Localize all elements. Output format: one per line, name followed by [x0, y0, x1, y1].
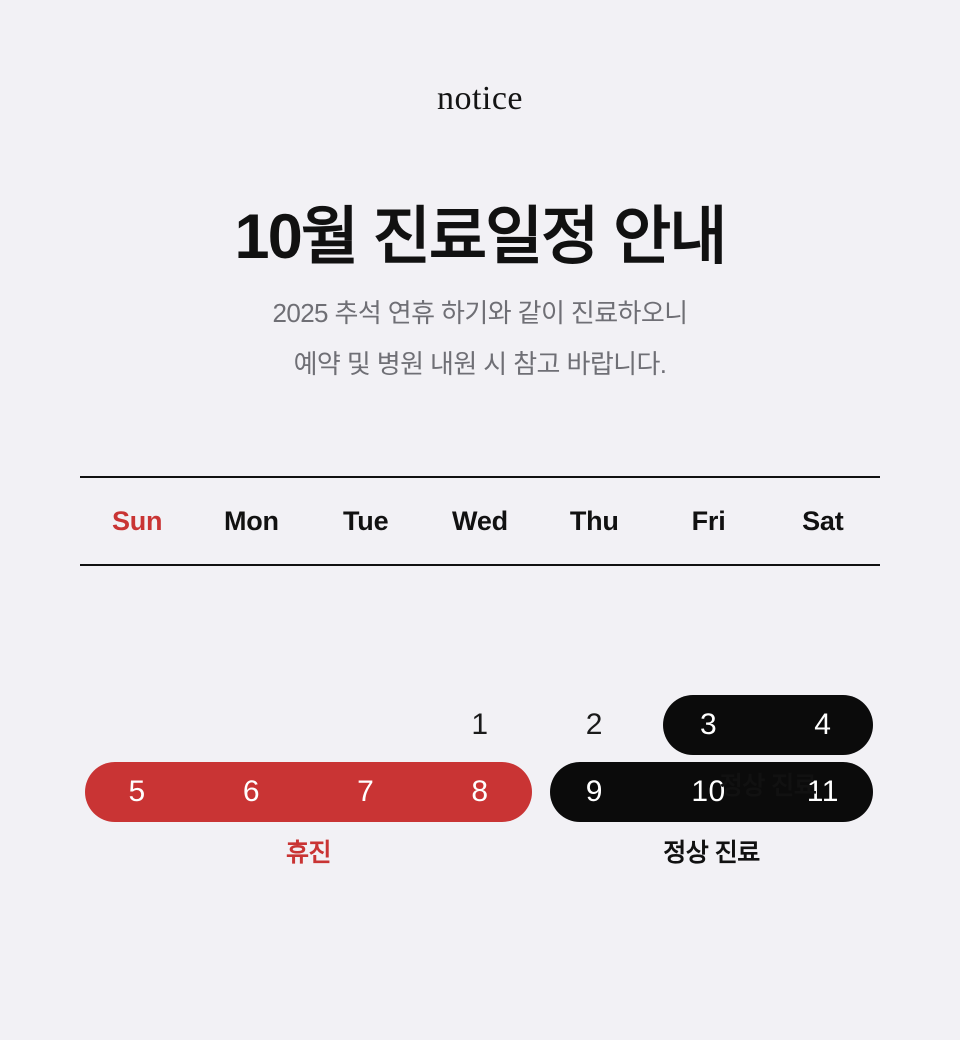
day-cell: 7	[309, 755, 423, 829]
day-cell: 6	[194, 755, 308, 829]
weekday-header-sun: Sun	[80, 506, 194, 537]
page-title: 10월 진료일정 안내	[0, 202, 960, 273]
day-cell: 3	[651, 688, 765, 762]
day-cell: 4	[766, 688, 880, 762]
day-cell: 5	[80, 755, 194, 829]
page-subtitle: 2025 추석 연휴 하기와 같이 진료하오니 예약 및 병원 내원 시 참고 …	[0, 288, 960, 389]
subtitle-line-1: 2025 추석 연휴 하기와 같이 진료하오니	[0, 288, 960, 339]
schedule-calendar: Sun Mon Tue Wed Thu Fri Sat 1 2 3 4 정상 진…	[80, 476, 880, 880]
weekday-header-mon: Mon	[194, 506, 308, 537]
schedule-pill-label-closed: 휴진	[85, 833, 532, 869]
weekday-header-sat: Sat	[766, 506, 880, 537]
subtitle-line-2: 예약 및 병원 내원 시 참고 바랍니다.	[0, 339, 960, 390]
weekday-header-thu: Thu	[537, 506, 651, 537]
day-cell: 9	[537, 755, 651, 829]
notice-page: notice 10월 진료일정 안내 2025 추석 연휴 하기와 같이 진료하…	[0, 0, 960, 1040]
schedule-pill-label-open: 정상 진료	[550, 833, 873, 869]
notice-eyebrow: notice	[0, 82, 960, 116]
weekday-header-tue: Tue	[309, 506, 423, 537]
schedule-pill-label-open: 정상 진료	[663, 766, 873, 802]
calendar-week-row: 1 2 3 4 정상 진료	[80, 566, 880, 723]
calendar-weekday-header: Sun Mon Tue Wed Thu Fri Sat	[80, 478, 880, 564]
weekday-header-wed: Wed	[423, 506, 537, 537]
day-cell: 1	[423, 688, 537, 762]
weekday-header-fri: Fri	[651, 506, 765, 537]
day-cell: 8	[423, 755, 537, 829]
day-cell: 2	[537, 688, 651, 762]
week-day-grid: 1 2 3 4	[80, 688, 880, 762]
